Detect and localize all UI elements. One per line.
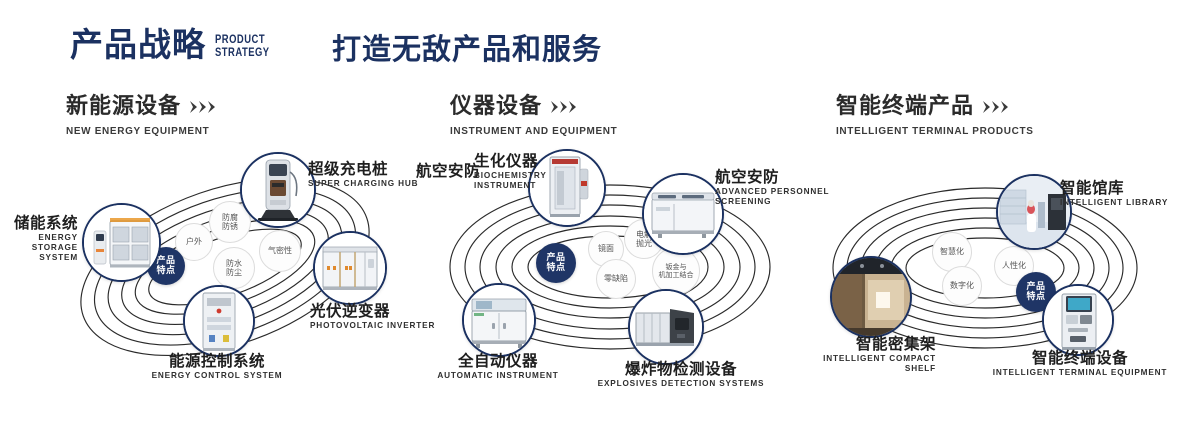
section-title-en: INTELLIGENT TERMINAL PRODUCTS (836, 125, 1034, 137)
energy-storage-artwork (84, 205, 159, 280)
label-en-line1: BIOCHEMISTRY (474, 171, 594, 181)
label-energy-storage: 储能系统 ENERGY STORAGE SYSTEM (0, 215, 78, 263)
label-cn: 能源控制系统 (87, 353, 347, 369)
feature-bubble-waterproof: 防水防尘 (213, 247, 255, 289)
energy-control-artwork (185, 287, 253, 355)
label-en: INTELLIGENT LIBRARY (1060, 198, 1200, 208)
label-en-line2: INSTRUMENT (474, 181, 594, 191)
explosives-detection-artwork (630, 291, 702, 363)
section-title-cn: 新能源设备 (66, 96, 181, 118)
label-en-line1: INTELLIGENT COMPACT (776, 354, 936, 364)
label-en: ENERGY CONTROL SYSTEM (87, 371, 347, 381)
label-energy-control: 能源控制系统 ENERGY CONTROL SYSTEM (87, 353, 347, 381)
section-title-instrument: 仪器设备 INSTRUMENT AND EQUIPMENT (450, 96, 626, 137)
label-cn: 智能密集架 (776, 336, 936, 352)
label-cn: 爆炸物检测设备 (576, 361, 786, 377)
poster-header: 产品战略 PRODUCT STRATEGY (70, 28, 282, 61)
product-node-terminal-equipment[interactable] (1042, 284, 1114, 356)
label-en: AUTOMATIC INSTRUMENT (408, 371, 588, 381)
cluster-instrument: 镜面 电解抛光 钣金与机加工结合 零缺陷 产品特点 (430, 155, 790, 370)
chevron-right-icon (983, 101, 1013, 113)
section-title-intelligent-terminal: 智能终端产品 INTELLIGENT TERMINAL PRODUCTS (836, 96, 1044, 137)
product-features-badge: 产品特点 (536, 243, 576, 283)
label-terminal-equipment: 智能终端设备 INTELLIGENT TERMINAL EQUIPMENT (980, 350, 1180, 378)
product-node-energy-storage[interactable] (82, 203, 161, 282)
chevron-right-icon (190, 101, 220, 113)
product-node-compact-shelf[interactable] (830, 256, 912, 338)
label-en-line2: SYSTEM (0, 253, 78, 263)
label-intelligent-library: 智能馆库 INTELLIGENT LIBRARY (1060, 180, 1200, 208)
section-title-new-energy: 新能源设备 NEW ENERGY EQUIPMENT (66, 96, 220, 137)
section-title-en: NEW ENERGY EQUIPMENT (66, 125, 212, 137)
pv-inverter-artwork (315, 233, 385, 303)
feature-bubble-airtight: 气密性 (259, 230, 301, 272)
label-cn: 全自动仪器 (408, 353, 588, 369)
label-en-line1: ENERGY STORAGE (0, 233, 78, 253)
poster-title-en-line2: STRATEGY (215, 47, 270, 60)
poster-canvas: 产品战略 PRODUCT STRATEGY 打造无敌产品和服务 新能源设备 NE… (0, 0, 1200, 422)
label-aviation-security: 航空安防 (390, 163, 480, 179)
feature-bubble-digital: 数字化 (942, 266, 982, 306)
product-node-energy-control[interactable] (183, 285, 255, 357)
cluster-intelligent-terminal: 智慧化 人性化 数字化 产品特点 (820, 160, 1150, 370)
label-cn: 智能终端设备 (980, 350, 1180, 366)
poster-title-cn: 产品战略 (70, 28, 206, 61)
compact-shelf-artwork (832, 258, 910, 336)
product-node-pv-inverter[interactable] (313, 231, 387, 305)
label-cn: 智能馆库 (1060, 180, 1200, 196)
label-cn: 航空安防 (390, 163, 480, 179)
section-title-en: INSTRUMENT AND EQUIPMENT (450, 125, 617, 137)
product-node-explosives-detection[interactable] (628, 289, 704, 365)
label-en: EXPLOSIVES DETECTION SYSTEMS (576, 379, 786, 389)
label-biochemistry-instrument: 生化仪器 BIOCHEMISTRY INSTRUMENT (474, 153, 594, 191)
label-en: INTELLIGENT TERMINAL EQUIPMENT (980, 368, 1180, 378)
label-en-line2: SHELF (776, 364, 936, 374)
poster-subtitle: 打造无敌产品和服务 (332, 35, 602, 64)
charging-hub-artwork (242, 154, 314, 226)
cluster-new-energy: 户外 防腐防锈 气密性 防水防尘 产品特点 (55, 155, 395, 370)
section-title-cn: 仪器设备 (450, 96, 542, 118)
section-title-cn: 智能终端产品 (836, 96, 974, 118)
label-cn: 生化仪器 (474, 153, 594, 169)
product-node-personnel-screening[interactable] (642, 173, 724, 255)
label-cn: 储能系统 (0, 215, 78, 231)
chevron-right-icon (551, 101, 581, 113)
terminal-equipment-artwork (1044, 286, 1112, 354)
label-automatic-instrument: 全自动仪器 AUTOMATIC INSTRUMENT (408, 353, 588, 381)
label-en: SUPER CHARGING HUB (308, 179, 448, 189)
poster-title-en-line1: PRODUCT (215, 34, 270, 47)
label-compact-shelf: 智能密集架 INTELLIGENT COMPACT SHELF (776, 336, 936, 374)
product-node-automatic-instrument[interactable] (462, 283, 536, 357)
personnel-screening-artwork (644, 175, 722, 253)
poster-title-en: PRODUCT STRATEGY (215, 34, 270, 59)
label-explosives-detection: 爆炸物检测设备 EXPLOSIVES DETECTION SYSTEMS (576, 361, 786, 389)
automatic-instrument-artwork (464, 285, 534, 355)
product-node-charging-hub[interactable] (240, 152, 316, 228)
